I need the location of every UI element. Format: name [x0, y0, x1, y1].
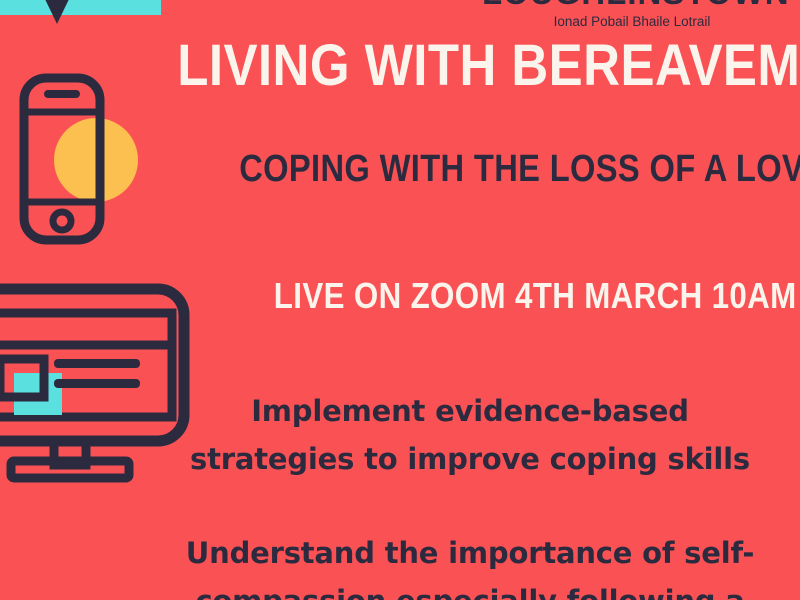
chevron-down-icon	[24, 0, 90, 32]
poster-subheadline: COPING WITH THE LOSS OF A LOVED ONE	[239, 150, 721, 188]
poster-headline: LIVING WITH BEREAVEMENT	[177, 38, 723, 93]
logo-wordmark: LOUGHLINSTOWN	[482, 0, 782, 9]
event-details-line: LIVE ON ZOOM 4TH MARCH 10AM - 11AM	[274, 278, 726, 314]
body-point-two: Understand the importance of self-compas…	[170, 530, 770, 600]
smartphone-icon	[18, 72, 163, 247]
logo-subtitle: Ionad Pobail Bhaile Lotrail	[482, 15, 782, 29]
body-point-one: Implement evidence-based strategies to i…	[170, 388, 770, 484]
organization-logo: LOUGHLINSTOWN Ionad Pobail Bhaile Lotrai…	[482, 0, 782, 29]
poster-canvas: LOUGHLINSTOWN Ionad Pobail Bhaile Lotrai…	[0, 0, 800, 600]
